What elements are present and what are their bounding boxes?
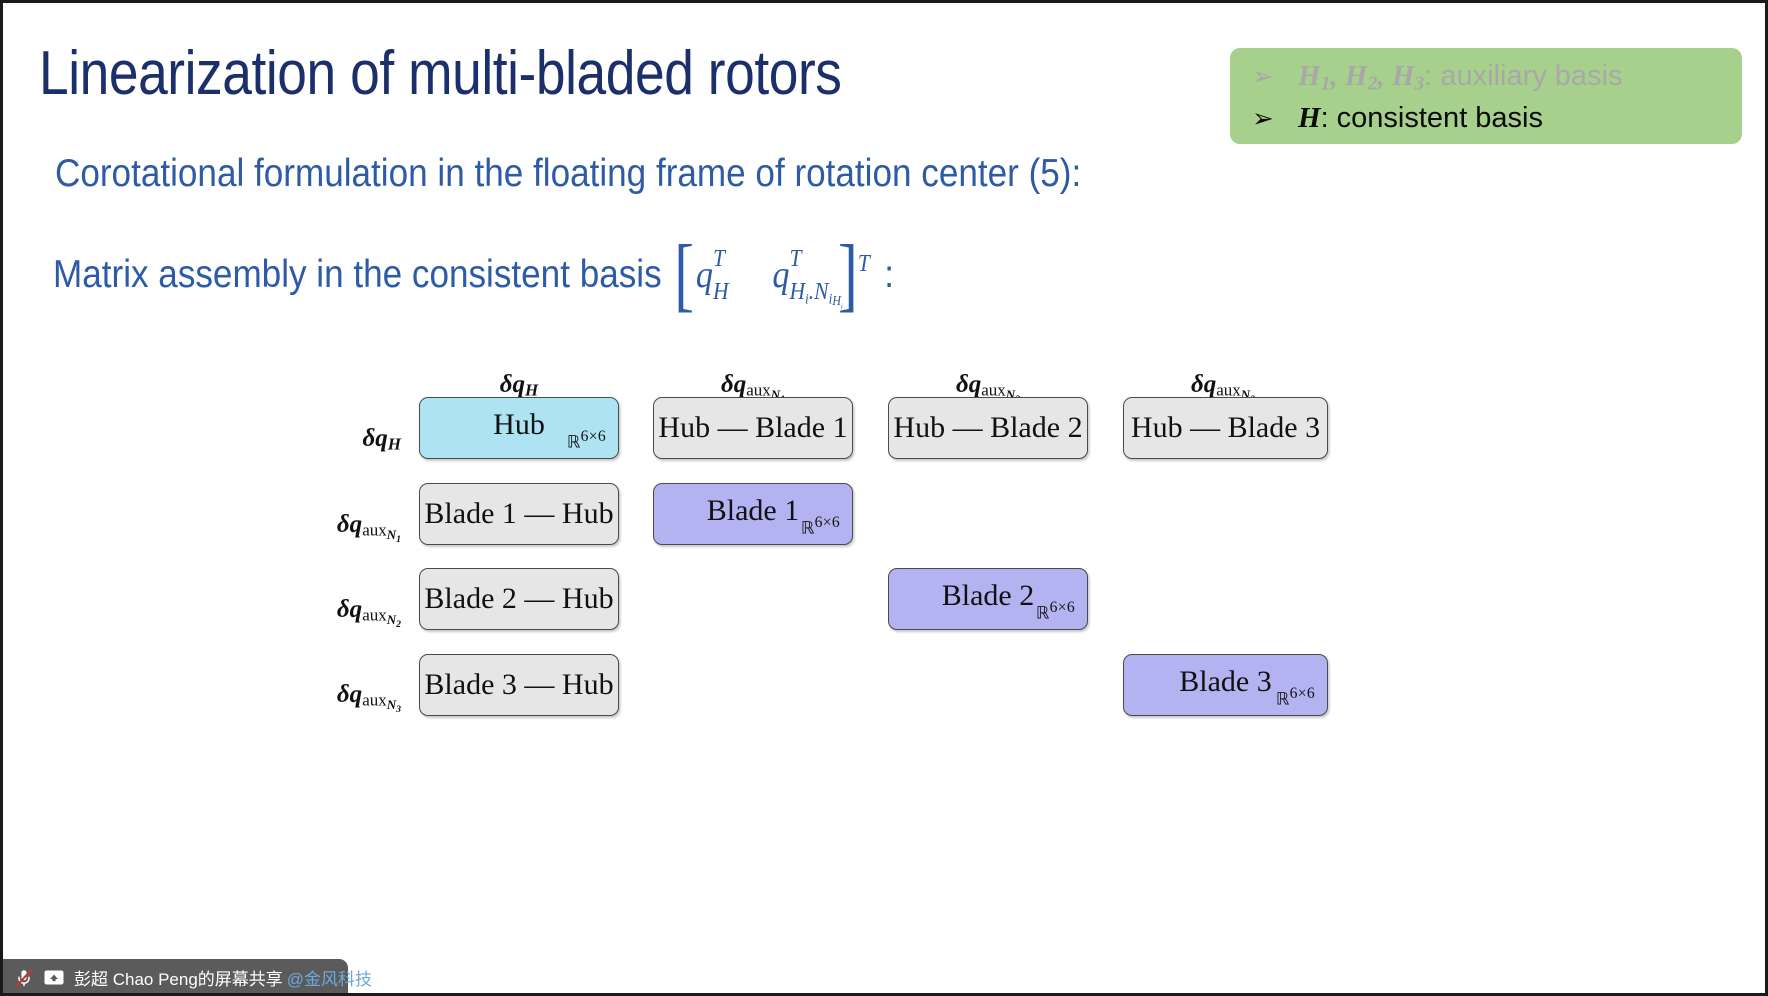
callout-box: ➢ H1, H2, H3: auxiliary basis ➢ H: consi… [1230, 48, 1742, 144]
body-line-corotational: Corotational formulation in the floating… [55, 151, 1081, 197]
formula-trailing-colon: : [884, 252, 894, 298]
matrix-assembly-diagram: δqH δqauxN1 δqauxN2 δqauxN3 δqH δqauxN1 … [303, 383, 1423, 743]
formula-consistent-basis: [ qTH qTHi.NiHi ] T [674, 245, 870, 304]
body-line-matrix-assembly: Matrix assembly in the consistent basis … [53, 245, 894, 304]
matrix-cell-label: Blade 2 — Hub [424, 582, 613, 616]
chevron-bullet-icon: ➢ [1252, 99, 1298, 137]
matrix-cell-dimension: ℝ6×6 [801, 514, 840, 539]
callout-item-desc: : auxiliary basis [1424, 60, 1622, 92]
matrix-cell: Hub — Blade 3 [1123, 397, 1328, 459]
slide-canvas: Linearization of multi-bladed rotors ➢ H… [0, 0, 1768, 996]
matrix-cell-label: Blade 3 — Hub [424, 668, 613, 702]
matrix-cell: Blade 1 — Hub [419, 483, 619, 545]
bracket-open-icon: [ [674, 238, 694, 312]
callout-symbol: H [1298, 102, 1321, 134]
formula-term-qhin: qTHi.NiHi [772, 252, 789, 298]
matrix-cell-label: Hub — Blade 1 [658, 411, 847, 445]
matrix-cell: Hubℝ6×6 [419, 397, 619, 459]
callout-item-text: H: consistent basis [1298, 99, 1543, 137]
microphone-muted-icon[interactable] [13, 967, 35, 989]
callout-item-auxiliary-basis: ➢ H1, H2, H3: auxiliary basis [1252, 57, 1742, 99]
share-owner-org: @金风科技 [287, 965, 372, 990]
formula-term-qhin-sub: Hi.NiHi [789, 269, 842, 329]
matrix-cell: Blade 2 — Hub [419, 568, 619, 630]
matrix-cell-dimension: ℝ6×6 [1276, 685, 1315, 710]
screen-share-taskbar[interactable]: 彭超 Chao Peng的屏幕共享 @金风科技 [3, 959, 348, 996]
matrix-cell: Blade 3ℝ6×6 [1123, 654, 1328, 716]
callout-item-consistent-basis: ➢ H: consistent basis [1252, 99, 1742, 141]
share-owner-label: 彭超 Chao Peng的屏幕共享 [74, 965, 283, 990]
bracket-close-icon: ] [838, 238, 858, 312]
matrix-row-header-qaux-n2: δqauxN2 [221, 596, 401, 630]
chevron-bullet-icon: ➢ [1252, 57, 1298, 95]
matrix-cell: Blade 1ℝ6×6 [653, 483, 853, 545]
formula-term-qh-sub: H [713, 269, 729, 315]
matrix-cell-label: Blade 1 [707, 494, 799, 528]
matrix-cell: Blade 3 — Hub [419, 654, 619, 716]
matrix-cell: Blade 2ℝ6×6 [888, 568, 1088, 630]
matrix-cell-label: Blade 2 [942, 579, 1034, 613]
matrix-row-header-qaux-n3: δqauxN3 [221, 681, 401, 715]
matrix-row-header-qaux-n1: δqauxN1 [221, 511, 401, 545]
matrix-cell-label: Hub — Blade 3 [1131, 411, 1320, 445]
callout-item-text: H1, H2, H3: auxiliary basis [1298, 57, 1623, 102]
matrix-cell: Hub — Blade 1 [653, 397, 853, 459]
matrix-cell-dimension: ℝ6×6 [1036, 599, 1075, 624]
matrix-cell-dimension: ℝ6×6 [567, 428, 606, 453]
matrix-row-header-qh: δqH [221, 425, 401, 455]
matrix-cell-label: Hub [493, 408, 545, 442]
formula-term-qh: qTH [696, 252, 713, 298]
matrix-cell: Hub — Blade 2 [888, 397, 1088, 459]
matrix-cell-label: Blade 1 — Hub [424, 497, 613, 531]
callout-item-desc: : consistent basis [1321, 102, 1543, 134]
screen-share-icon[interactable] [43, 969, 65, 987]
formula-outer-sup: T [858, 241, 870, 287]
page-title: Linearization of multi-bladed rotors [39, 39, 842, 109]
body-line-matrix-assembly-text: Matrix assembly in the consistent basis [53, 252, 662, 298]
matrix-cell-label: Hub — Blade 2 [893, 411, 1082, 445]
matrix-cell-label: Blade 3 [1179, 665, 1271, 699]
